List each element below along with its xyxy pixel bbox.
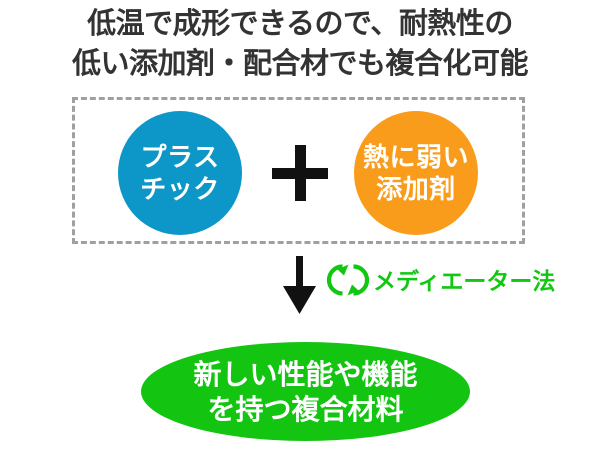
input-bubble-plastic: プラス チック — [118, 111, 242, 235]
input-bubble-plastic-line-1: プラス — [141, 141, 220, 173]
input-bubble-additive-line-1: 熱に弱い — [363, 141, 469, 173]
down-arrow-icon — [278, 256, 324, 314]
plus-icon-vertical-bar — [295, 145, 306, 201]
method-label: メディエーター法 — [373, 266, 555, 296]
input-bubble-additive-line-2: 添加剤 — [376, 173, 456, 205]
process-diagram: 低温で成形できるので、耐熱性の 低い添加剤・配合材でも複合化可能 プラス チック… — [0, 0, 600, 460]
page-title-line-1: 低温で成形できるので、耐熱性の — [0, 4, 600, 44]
input-bubble-additive: 熱に弱い 添加剤 — [354, 111, 478, 235]
page-title-line-2: 低い添加剤・配合材でも複合化可能 — [0, 44, 600, 84]
cycle-arrows-icon — [327, 259, 369, 301]
result-ellipse: 新しい性能や機能 を持つ複合材料 — [141, 342, 470, 441]
result-line-2: を持つ複合材料 — [207, 392, 403, 427]
page-title: 低温で成形できるので、耐熱性の 低い添加剤・配合材でも複合化可能 — [0, 4, 600, 84]
input-bubble-plastic-line-2: チック — [140, 173, 220, 205]
plus-icon — [272, 145, 328, 201]
result-line-1: 新しい性能や機能 — [193, 357, 417, 392]
